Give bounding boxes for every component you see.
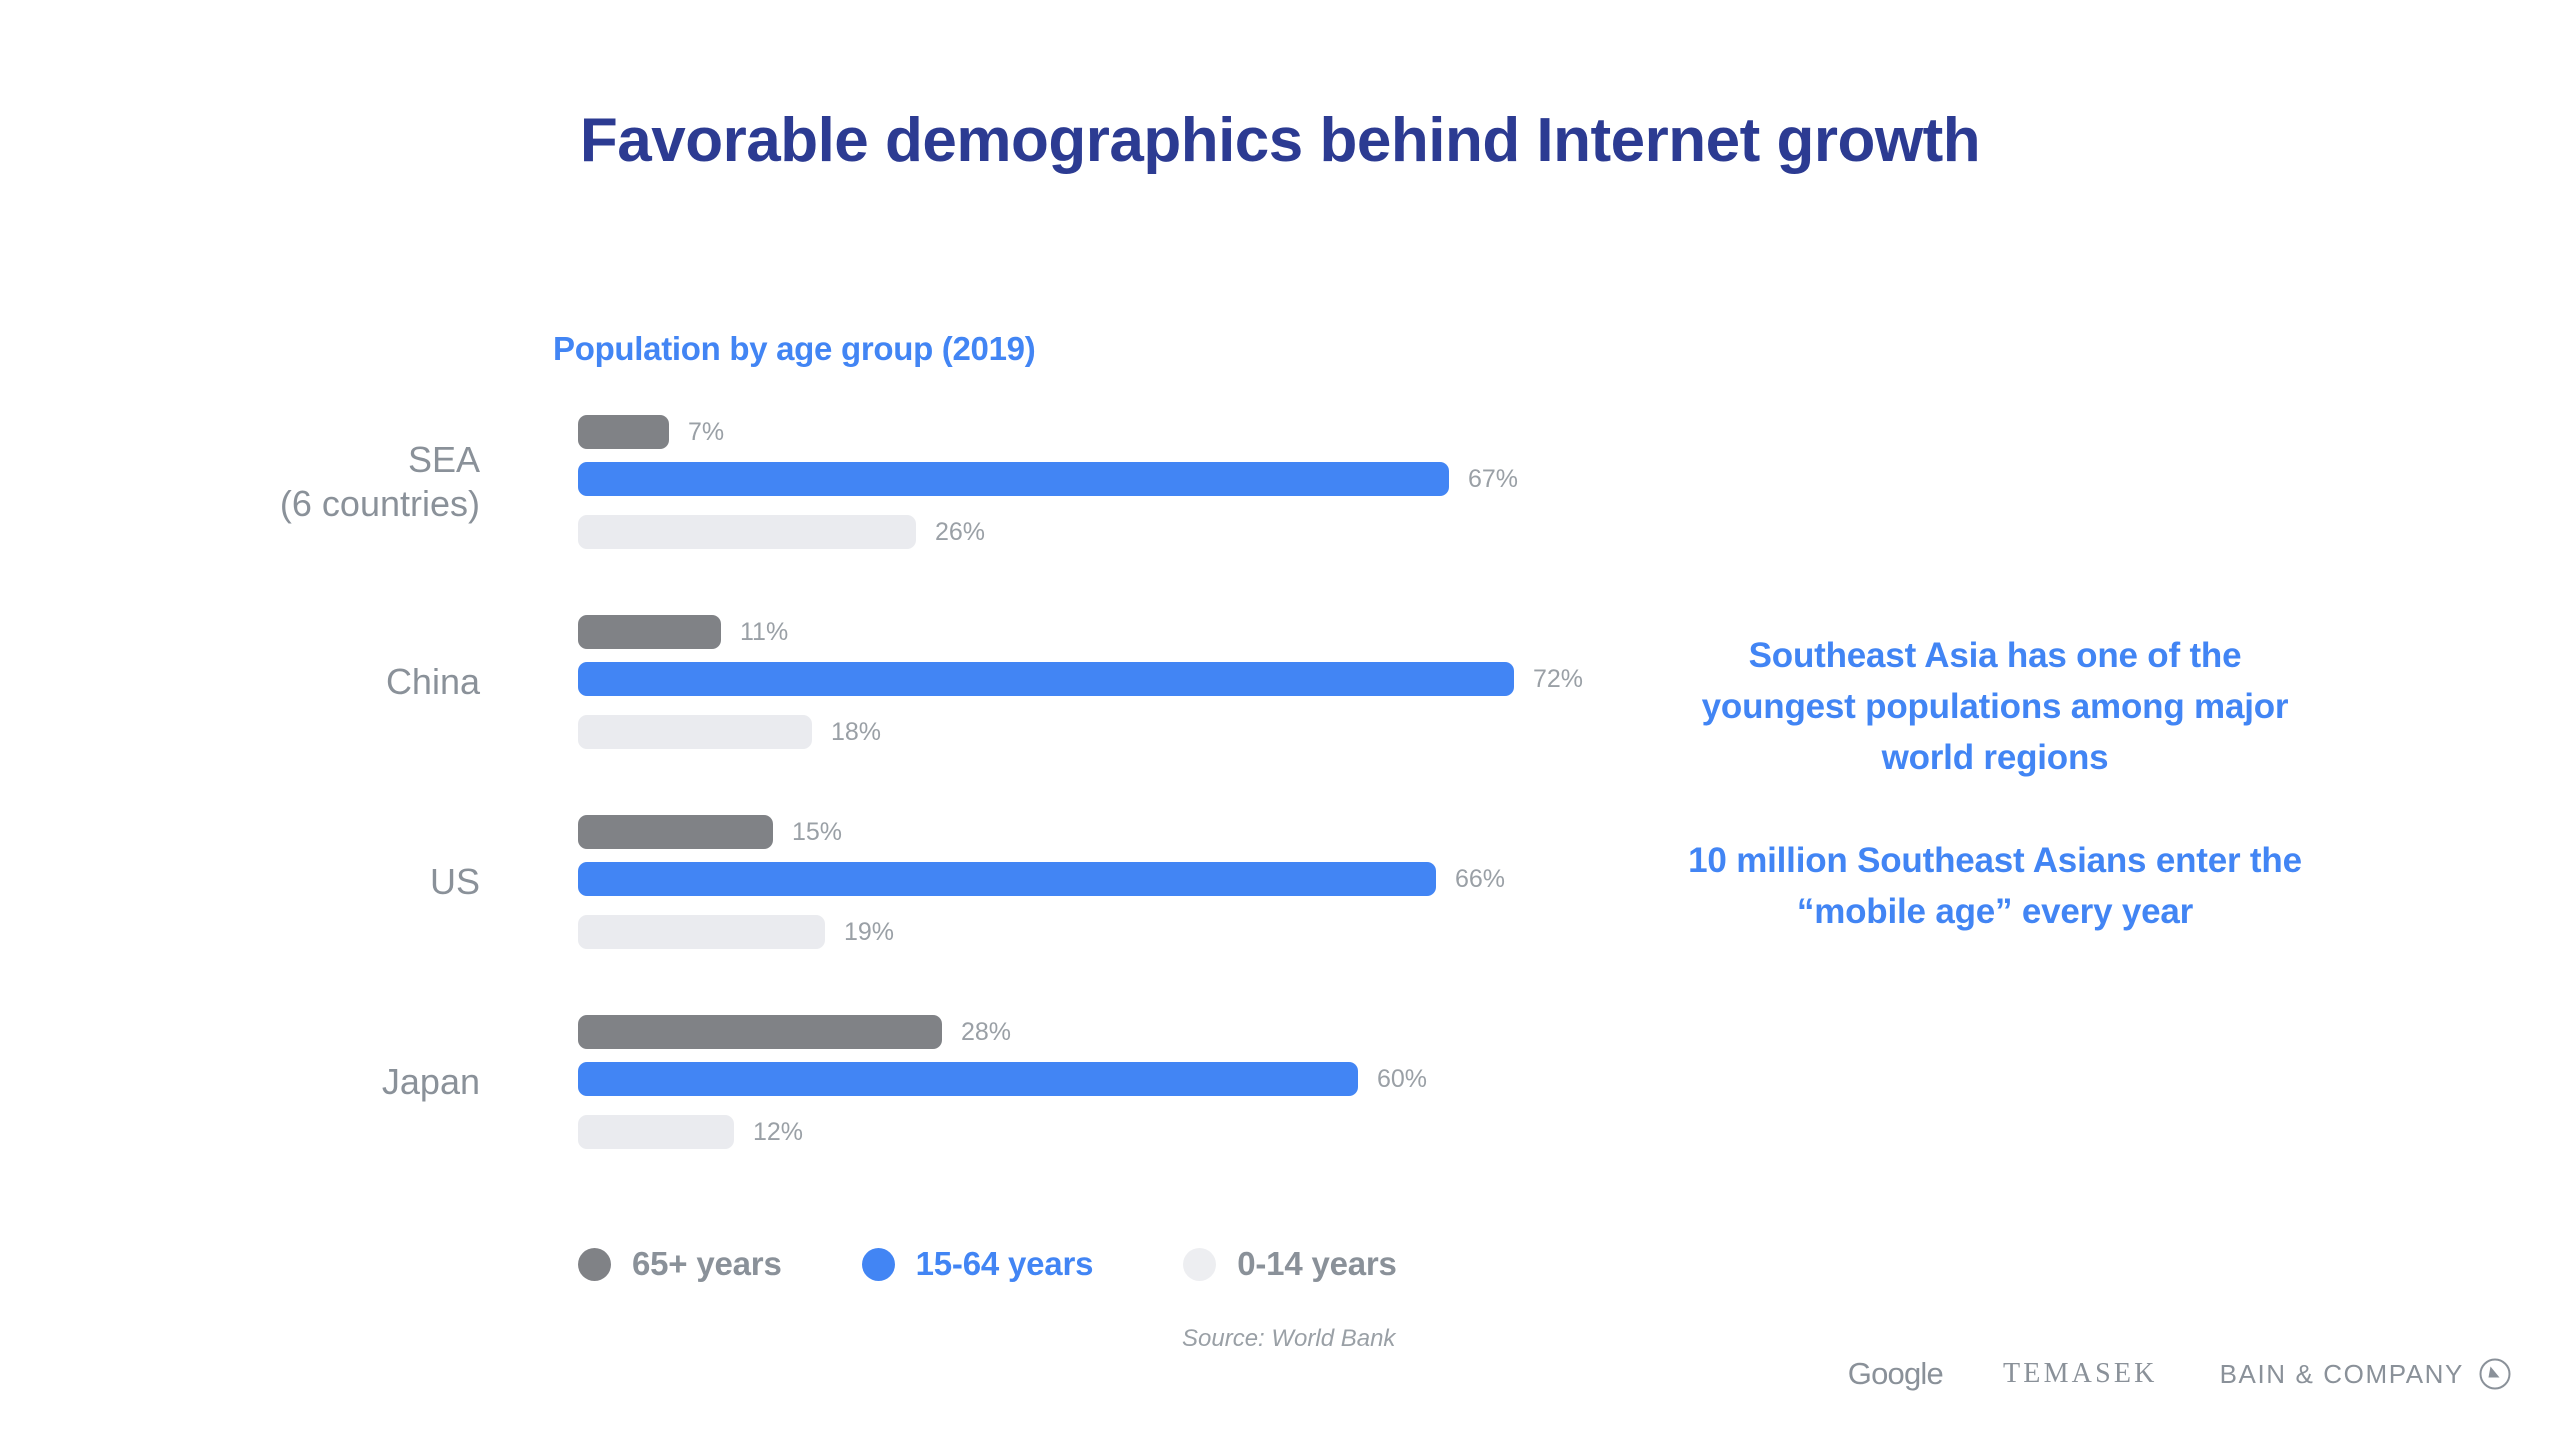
bar-value-label: 15%: [792, 818, 842, 847]
bar: [578, 1062, 1358, 1096]
bar-row: 15%: [578, 815, 842, 849]
page-title: Favorable demographics behind Internet g…: [0, 105, 2560, 176]
category-label: SEA(6 countries): [0, 438, 480, 526]
bar: [578, 662, 1514, 696]
category-label-line1: US: [430, 861, 480, 902]
bar: [578, 815, 773, 849]
callout-panel: Southeast Asia has one of the youngest p…: [1680, 630, 2310, 937]
callout-text-2: 10 million Southeast Asians enter the “m…: [1680, 835, 2310, 937]
category-label-line1: China: [386, 661, 480, 702]
legend-swatch-icon: [578, 1248, 611, 1281]
category-label: Japan: [0, 1060, 480, 1104]
temasek-logo: TEMASEK: [2003, 1358, 2158, 1390]
bar-row: 60%: [578, 1062, 1427, 1096]
chart-title: Population by age group (2019): [553, 330, 1035, 368]
bain-company-logo: BAIN & COMPANY: [2220, 1359, 2464, 1390]
bar-group: US15%66%19%: [0, 815, 1640, 949]
bar-row: 66%: [578, 862, 1505, 896]
bar-row: 72%: [578, 662, 1583, 696]
bar-row: 26%: [578, 515, 985, 549]
bar-value-label: 67%: [1468, 465, 1518, 494]
bar: [578, 1115, 734, 1149]
legend-swatch-icon: [862, 1248, 895, 1281]
bar-row: 12%: [578, 1115, 803, 1149]
bar-row: 67%: [578, 462, 1518, 496]
bar-value-label: 72%: [1533, 665, 1583, 694]
category-label-line1: SEA: [408, 439, 480, 480]
bar-value-label: 60%: [1377, 1065, 1427, 1094]
bar-row: 28%: [578, 1015, 1011, 1049]
category-label-line1: Japan: [382, 1061, 480, 1102]
bar-group: China11%72%18%: [0, 615, 1640, 749]
bar: [578, 462, 1449, 496]
bar: [578, 515, 916, 549]
bar-value-label: 7%: [688, 418, 724, 447]
bar-row: 19%: [578, 915, 894, 949]
legend-item[interactable]: 0-14 years: [1183, 1245, 1396, 1283]
legend-label: 0-14 years: [1237, 1245, 1396, 1283]
bar-chart-plot: SEA(6 countries)7%67%26%China11%72%18%US…: [0, 415, 1640, 1149]
category-label: China: [0, 660, 480, 704]
chart-legend: 65+ years15-64 years0-14 years: [578, 1245, 1397, 1283]
bar-value-label: 26%: [935, 518, 985, 547]
bar: [578, 415, 669, 449]
legend-swatch-icon: [1183, 1248, 1216, 1281]
footer-brand-bar: Google TEMASEK BAIN & COMPANY: [1848, 1356, 2512, 1392]
bar: [578, 1015, 942, 1049]
callout-text-1: Southeast Asia has one of the youngest p…: [1680, 630, 2310, 783]
bar: [578, 862, 1436, 896]
category-label-line2: (6 countries): [0, 482, 480, 526]
source-note: Source: World Bank: [1182, 1325, 1395, 1353]
google-logo: Google: [1848, 1356, 1943, 1392]
bar: [578, 615, 721, 649]
bar-value-label: 18%: [831, 718, 881, 747]
circle-triangle-icon: [2478, 1357, 2512, 1391]
bar-value-label: 66%: [1455, 865, 1505, 894]
category-label: US: [0, 860, 480, 904]
bar: [578, 915, 825, 949]
legend-item[interactable]: 65+ years: [578, 1245, 782, 1283]
bar-value-label: 12%: [753, 1118, 803, 1147]
bar-value-label: 19%: [844, 918, 894, 947]
bar-value-label: 11%: [740, 618, 788, 647]
bar-value-label: 28%: [961, 1018, 1011, 1047]
bar-group: Japan28%60%12%: [0, 1015, 1640, 1149]
bar-group: SEA(6 countries)7%67%26%: [0, 415, 1640, 549]
legend-label: 65+ years: [632, 1245, 782, 1283]
bar: [578, 715, 812, 749]
legend-item[interactable]: 15-64 years: [862, 1245, 1094, 1283]
bar-row: 11%: [578, 615, 788, 649]
legend-label: 15-64 years: [916, 1245, 1094, 1283]
bar-row: 18%: [578, 715, 881, 749]
bar-row: 7%: [578, 415, 724, 449]
